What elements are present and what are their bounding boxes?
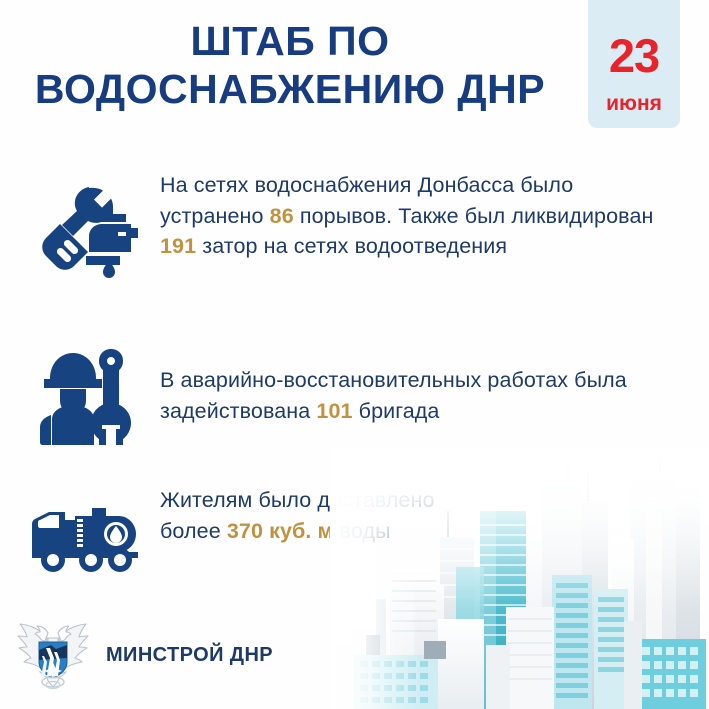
title-line-1: ШТАБ ПО — [0, 18, 580, 66]
water-tanker-truck-icon — [28, 502, 144, 579]
stat-text: Жителям было доставлено более 370 куб. м… — [160, 485, 490, 546]
date-day: 23 — [609, 32, 659, 79]
stat-number: 86 — [270, 204, 294, 228]
infographic-poster: ШТАБ ПО ВОДОСНАБЖЕНИЮ ДНР 23 июня — [0, 0, 709, 709]
stat-number: 101 — [316, 399, 352, 423]
dnr-double-headed-eagle-emblem — [14, 616, 92, 694]
stat-text: В аварийно-восстановительных работах был… — [160, 365, 680, 426]
stat-text-part: порывов. Также был ликвидирован — [294, 204, 654, 228]
stat-text-part: воды — [334, 519, 391, 543]
page-title: ШТАБ ПО ВОДОСНАБЖЕНИЮ ДНР — [0, 18, 580, 113]
stat-text: На сетях водоснабжения Донбасса было уст… — [160, 170, 670, 262]
date-month: июня — [606, 93, 662, 114]
footer: МИНСТРОЙ ДНР — [14, 615, 273, 695]
footer-label: МИНСТРОЙ ДНР — [106, 644, 273, 667]
stat-number: 370 куб. м — [227, 519, 334, 543]
title-line-2: ВОДОСНАБЖЕНИЮ ДНР — [0, 66, 580, 114]
header: ШТАБ ПО ВОДОСНАБЖЕНИЮ ДНР 23 июня — [0, 0, 709, 140]
stat-number: 191 — [160, 234, 196, 258]
stat-text-part: затор на сетях водоотведения — [196, 234, 507, 258]
hand-wrench-faucet-icon — [26, 180, 138, 293]
date-panel: 23 июня — [588, 0, 680, 128]
worker-hardhat-wrench-icon — [30, 345, 134, 450]
stat-text-part: бригада — [353, 399, 440, 423]
